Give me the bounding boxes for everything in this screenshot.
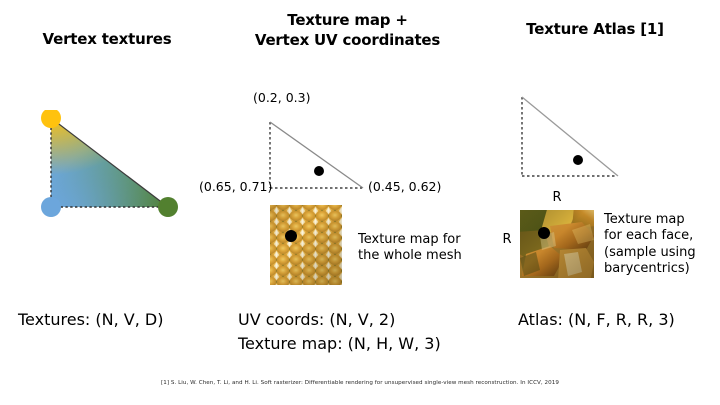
atlas-dim-label-top: R	[534, 190, 580, 205]
column-title-texture-map-uv: Texture map + Vertex UV coordinates	[215, 10, 480, 51]
uv-label-bottom-left: (0.65, 0.71)	[199, 181, 272, 194]
texture-sample-dot	[538, 227, 550, 239]
vertex-triangle-svg	[30, 110, 190, 220]
column-title-texture-atlas: Texture Atlas [1]	[480, 19, 710, 39]
per-face-texture-svg	[520, 210, 594, 278]
vertex-dot-bottom-right	[158, 197, 178, 217]
formula-uv-coords-and-texture-map: UV coords: (N, V, 2) Texture map: (N, H,…	[238, 308, 498, 356]
right-texture-caption: Texture map for each face, (sample using…	[604, 212, 720, 277]
formula-atlas: Atlas: (N, F, R, R, 3)	[518, 308, 718, 332]
pineapple-texture-map	[270, 205, 342, 285]
atlas-triangle-figure	[500, 90, 650, 185]
uv-triangle-edge-hypotenuse	[270, 122, 363, 188]
pineapple-texture-svg	[270, 205, 342, 285]
texture-sample-dot	[285, 230, 297, 242]
uv-label-top: (0.2, 0.3)	[253, 92, 310, 105]
uv-coordinates-figure: (0.2, 0.3) (0.65, 0.71) (0.45, 0.62)	[200, 92, 470, 197]
citation-footnote: [1] S. Liu, W. Chen, T. Li, and H. Li. S…	[0, 380, 720, 386]
uv-label-bottom-right: (0.45, 0.62)	[368, 181, 441, 194]
atlas-dim-label-left: R	[498, 232, 516, 247]
formula-textures: Textures: (N, V, D)	[18, 308, 238, 332]
barycentric-sample-dot	[314, 166, 324, 176]
vertex-dot-bottom-left	[41, 197, 61, 217]
atlas-triangle-svg	[500, 90, 650, 185]
barycentric-sample-dot	[573, 155, 583, 165]
vertex-textures-figure	[30, 110, 190, 220]
middle-texture-caption: Texture map for the whole mesh	[358, 232, 498, 265]
atlas-triangle-edge-hypotenuse	[522, 97, 618, 176]
column-title-vertex-textures: Vertex textures	[12, 29, 202, 49]
per-face-texture-map	[520, 210, 594, 278]
